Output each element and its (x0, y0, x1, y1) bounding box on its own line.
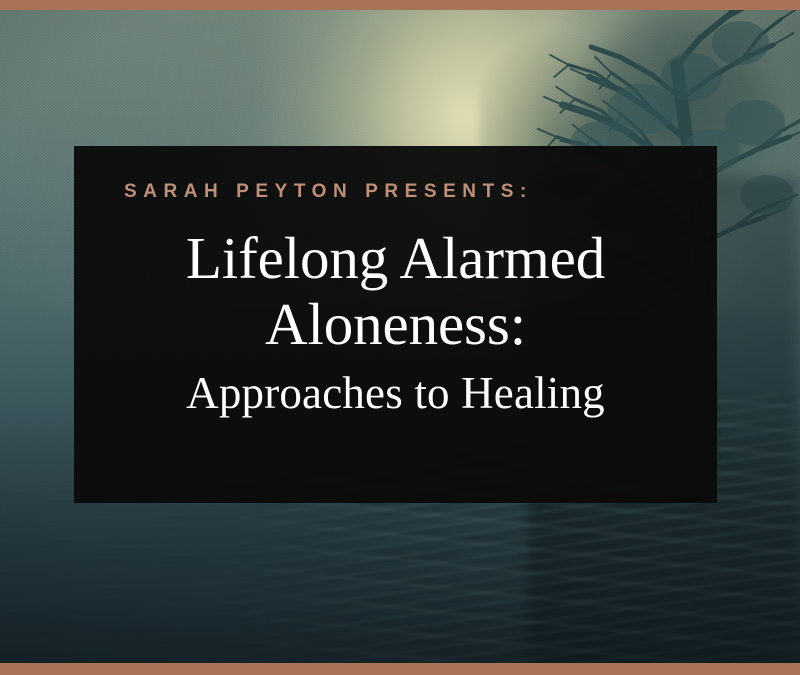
bottom-accent-bar (0, 663, 800, 675)
presenter-eyebrow: SARAH PEYTON PRESENTS: (98, 182, 693, 203)
page-subtitle: Approaches to Healing (98, 368, 693, 420)
title-line-2: Aloneness: (98, 291, 693, 357)
poster-canvas: SARAH PEYTON PRESENTS: Lifelong Alarmed … (0, 0, 800, 675)
top-accent-bar (0, 0, 800, 10)
page-title: Lifelong Alarmed Aloneness: (98, 225, 693, 357)
title-panel: SARAH PEYTON PRESENTS: Lifelong Alarmed … (74, 146, 717, 503)
title-line-1: Lifelong Alarmed (98, 225, 693, 291)
